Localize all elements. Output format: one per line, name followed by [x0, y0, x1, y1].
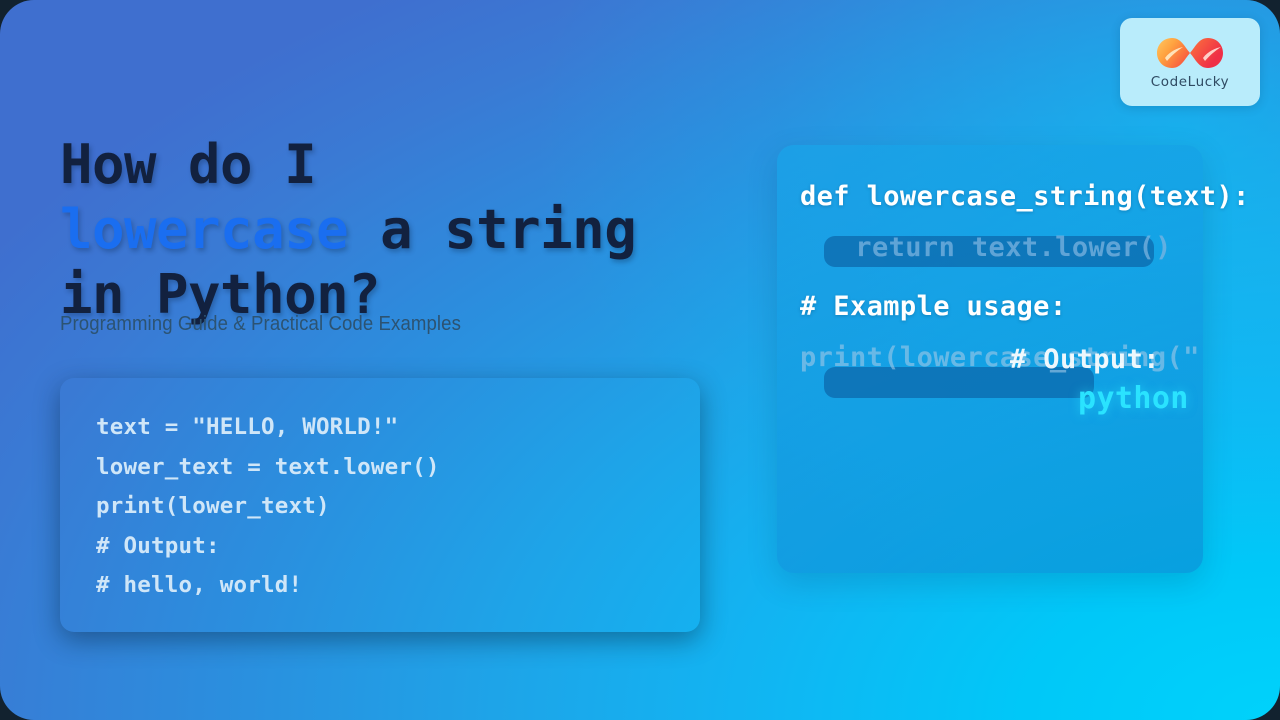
banner-root: CodeLucky How do Ilowercase a stringin P… [0, 0, 1280, 720]
page-subtitle: Programming Guide & Practical Code Examp… [60, 313, 461, 336]
code-line: lower_text = text.lower() [96, 454, 440, 480]
snippet-overlay-python: python [1078, 381, 1280, 416]
snippet-line-def: def lowercase_string(text): [800, 181, 1280, 212]
snippet-overlay-output: # Output: [1010, 344, 1280, 375]
headline-line-1: How do I [60, 133, 316, 196]
page-title: How do Ilowercase a stringin Python? [60, 132, 720, 327]
headline-line-2-rest: a string [348, 198, 636, 261]
brand-name: CodeLucky [1151, 74, 1230, 90]
code-example-text: text = "HELLO, WORLD!" lower_text = text… [96, 408, 700, 606]
code-line: # hello, world! [96, 572, 302, 598]
code-line: print(lower_text) [96, 493, 330, 519]
code-line: # Output: [96, 533, 220, 559]
infinity-leaf-icon [1153, 34, 1227, 72]
snippet-line-return: return text.lower() [822, 232, 1280, 263]
headline-accent: lowercase [60, 198, 348, 261]
code-example-card: text = "HELLO, WORLD!" lower_text = text… [60, 378, 700, 632]
code-line: text = "HELLO, WORLD!" [96, 414, 398, 440]
brand-logo-badge[interactable]: CodeLucky [1120, 18, 1260, 106]
snippet-line-example: # Example usage: [800, 291, 1280, 322]
